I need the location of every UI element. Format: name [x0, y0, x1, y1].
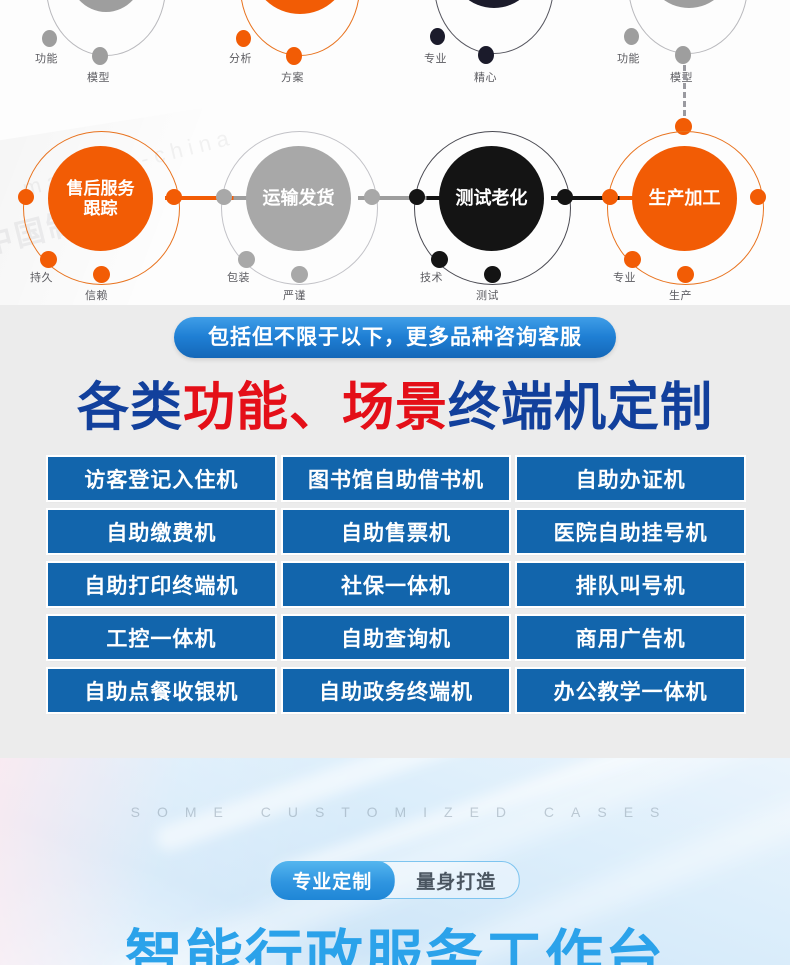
orbit-dot [42, 30, 57, 47]
node-caption: 专业 [424, 50, 447, 66]
orbit-dot [216, 189, 232, 205]
node-label: 售后服务跟踪 [67, 179, 135, 217]
product-button[interactable]: 自助政务终端机 [283, 669, 510, 712]
orbit-dot [602, 189, 618, 205]
node-caption: 功能 [35, 50, 58, 66]
title-part-accent: 功能、场景 [183, 379, 448, 437]
orbit-dot [92, 47, 108, 65]
node-core: 售后服务跟踪 [48, 146, 153, 251]
orbit-dot [478, 46, 494, 64]
orbit-dot [557, 189, 573, 205]
orbit-dot [409, 189, 425, 205]
product-button[interactable]: 社保一体机 [283, 563, 510, 606]
cases-banner-section: SOME CUSTOMIZED CASES 专业定制 量身打造 智能行政服务工作… [0, 758, 790, 965]
process-diagram-section: 中国制造网 made-in-china 功能 模型 分析 方案 专业 [0, 0, 790, 305]
product-button[interactable]: 自助点餐收银机 [48, 669, 275, 712]
node-caption: 模型 [87, 69, 110, 85]
node-caption: 专业 [613, 269, 636, 285]
badge-inactive[interactable]: 量身打造 [394, 862, 518, 898]
node-caption: 信赖 [85, 287, 108, 303]
node-label: 生产加工 [649, 188, 721, 208]
node-core: 测试老化 [439, 146, 544, 251]
product-button[interactable]: 自助打印终端机 [48, 563, 275, 606]
node-label: 运输发货 [263, 188, 335, 208]
page-root: 中国制造网 made-in-china 功能 模型 分析 方案 专业 [0, 0, 790, 965]
orbit-dot [624, 28, 639, 45]
node-caption: 持久 [30, 269, 53, 285]
orbit-dot [431, 251, 448, 268]
product-button[interactable]: 自助售票机 [283, 510, 510, 553]
orbit-dot [238, 251, 255, 268]
dashed-connector [683, 65, 686, 125]
orbit-dot [430, 28, 445, 45]
node-label: 测试老化 [456, 188, 528, 208]
node-caption: 技术 [420, 269, 443, 285]
orbit-dot [484, 266, 501, 283]
product-button[interactable]: 访客登记入住机 [48, 457, 275, 500]
orbit-dot [677, 266, 694, 283]
orbit-dot [675, 46, 691, 64]
section-eyebrow: SOME CUSTOMIZED CASES [0, 804, 790, 820]
product-button[interactable]: 自助查询机 [283, 616, 510, 659]
cases-title: 智能行政服务工作台 [0, 910, 790, 965]
customization-badge-group: 专业定制 量身打造 [271, 861, 520, 899]
product-list-section: 包括但不限于以下，更多品种咨询客服 各类功能、场景终端机定制 访客登记入住机 图… [0, 305, 790, 758]
product-button[interactable]: 医院自助挂号机 [517, 510, 744, 553]
node-caption: 精心 [474, 69, 497, 85]
orbit-dot [291, 266, 308, 283]
node-caption: 模型 [670, 69, 693, 85]
title-part-1: 各类 [77, 379, 183, 437]
orbit-dot [364, 189, 380, 205]
product-button[interactable]: 自助缴费机 [48, 510, 275, 553]
product-button-grid: 访客登记入住机 图书馆自助借书机 自助办证机 自助缴费机 自助售票机 医院自助挂… [48, 457, 744, 712]
orbit-dot [750, 189, 766, 205]
page-title: 各类功能、场景终端机定制 [0, 365, 790, 440]
product-button[interactable]: 自助办证机 [517, 457, 744, 500]
orbit-dot [624, 251, 641, 268]
orbit-dot [40, 251, 57, 268]
node-caption: 测试 [476, 287, 499, 303]
orbit-dot [236, 30, 251, 47]
node-caption: 生产 [669, 287, 692, 303]
node-caption: 方案 [281, 69, 304, 85]
product-button[interactable]: 图书馆自助借书机 [283, 457, 510, 500]
product-button[interactable]: 办公教学一体机 [517, 669, 744, 712]
orbit-dot [166, 189, 182, 205]
node-core: 生产加工 [632, 146, 737, 251]
orbit-dot [18, 189, 34, 205]
node-caption: 包装 [227, 269, 250, 285]
product-button[interactable]: 工控一体机 [48, 616, 275, 659]
section-pill-banner: 包括但不限于以下，更多品种咨询客服 [174, 317, 616, 358]
product-button[interactable]: 排队叫号机 [517, 563, 744, 606]
badge-active[interactable]: 专业定制 [270, 861, 394, 900]
orbit-ring [628, 0, 748, 54]
node-core: 运输发货 [246, 146, 351, 251]
node-caption: 功能 [617, 50, 640, 66]
title-part-3: 终端机定制 [448, 379, 713, 437]
orbit-ring [434, 0, 554, 54]
orbit-dot [93, 266, 110, 283]
node-caption: 分析 [229, 50, 252, 66]
node-caption: 严谨 [283, 287, 306, 303]
orbit-dot [286, 47, 302, 65]
product-button[interactable]: 商用广告机 [517, 616, 744, 659]
